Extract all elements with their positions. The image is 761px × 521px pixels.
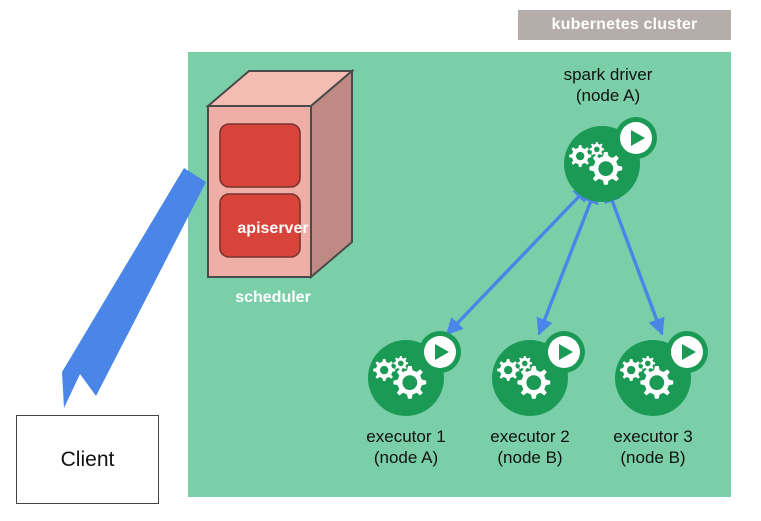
gear-tiny-icon <box>641 356 656 371</box>
gear-large-icon <box>589 152 622 185</box>
spark-driver-label-line1: spark driver <box>508 64 708 85</box>
executor-3-label-line2: (node B) <box>553 447 753 468</box>
gears-play-node-icon <box>558 116 658 206</box>
diagram-canvas: kubernetes cluster Client spark-submit a… <box>0 0 761 516</box>
gears-play-node-icon <box>609 330 709 420</box>
spark-driver-caption: spark driver (node A) <box>508 64 708 107</box>
connector-driver-executor-3 <box>607 187 662 334</box>
gear-small-icon <box>497 359 519 381</box>
gear-tiny-icon <box>394 356 409 371</box>
gears-play-node-icon <box>486 330 586 420</box>
gear-tiny-icon <box>518 356 533 371</box>
gear-large-icon <box>640 366 673 399</box>
gear-small-icon <box>373 359 395 381</box>
gear-small-icon <box>569 145 591 167</box>
executor-3-caption: executor 3 (node B) <box>553 426 753 469</box>
gear-large-icon <box>517 366 550 399</box>
gear-small-icon <box>620 359 642 381</box>
executor-3-label-line1: executor 3 <box>553 426 753 447</box>
spark-driver-label-line2: (node A) <box>508 85 708 106</box>
gear-tiny-icon <box>590 142 605 157</box>
gear-large-icon <box>393 366 426 399</box>
gears-play-node-icon <box>362 330 462 420</box>
